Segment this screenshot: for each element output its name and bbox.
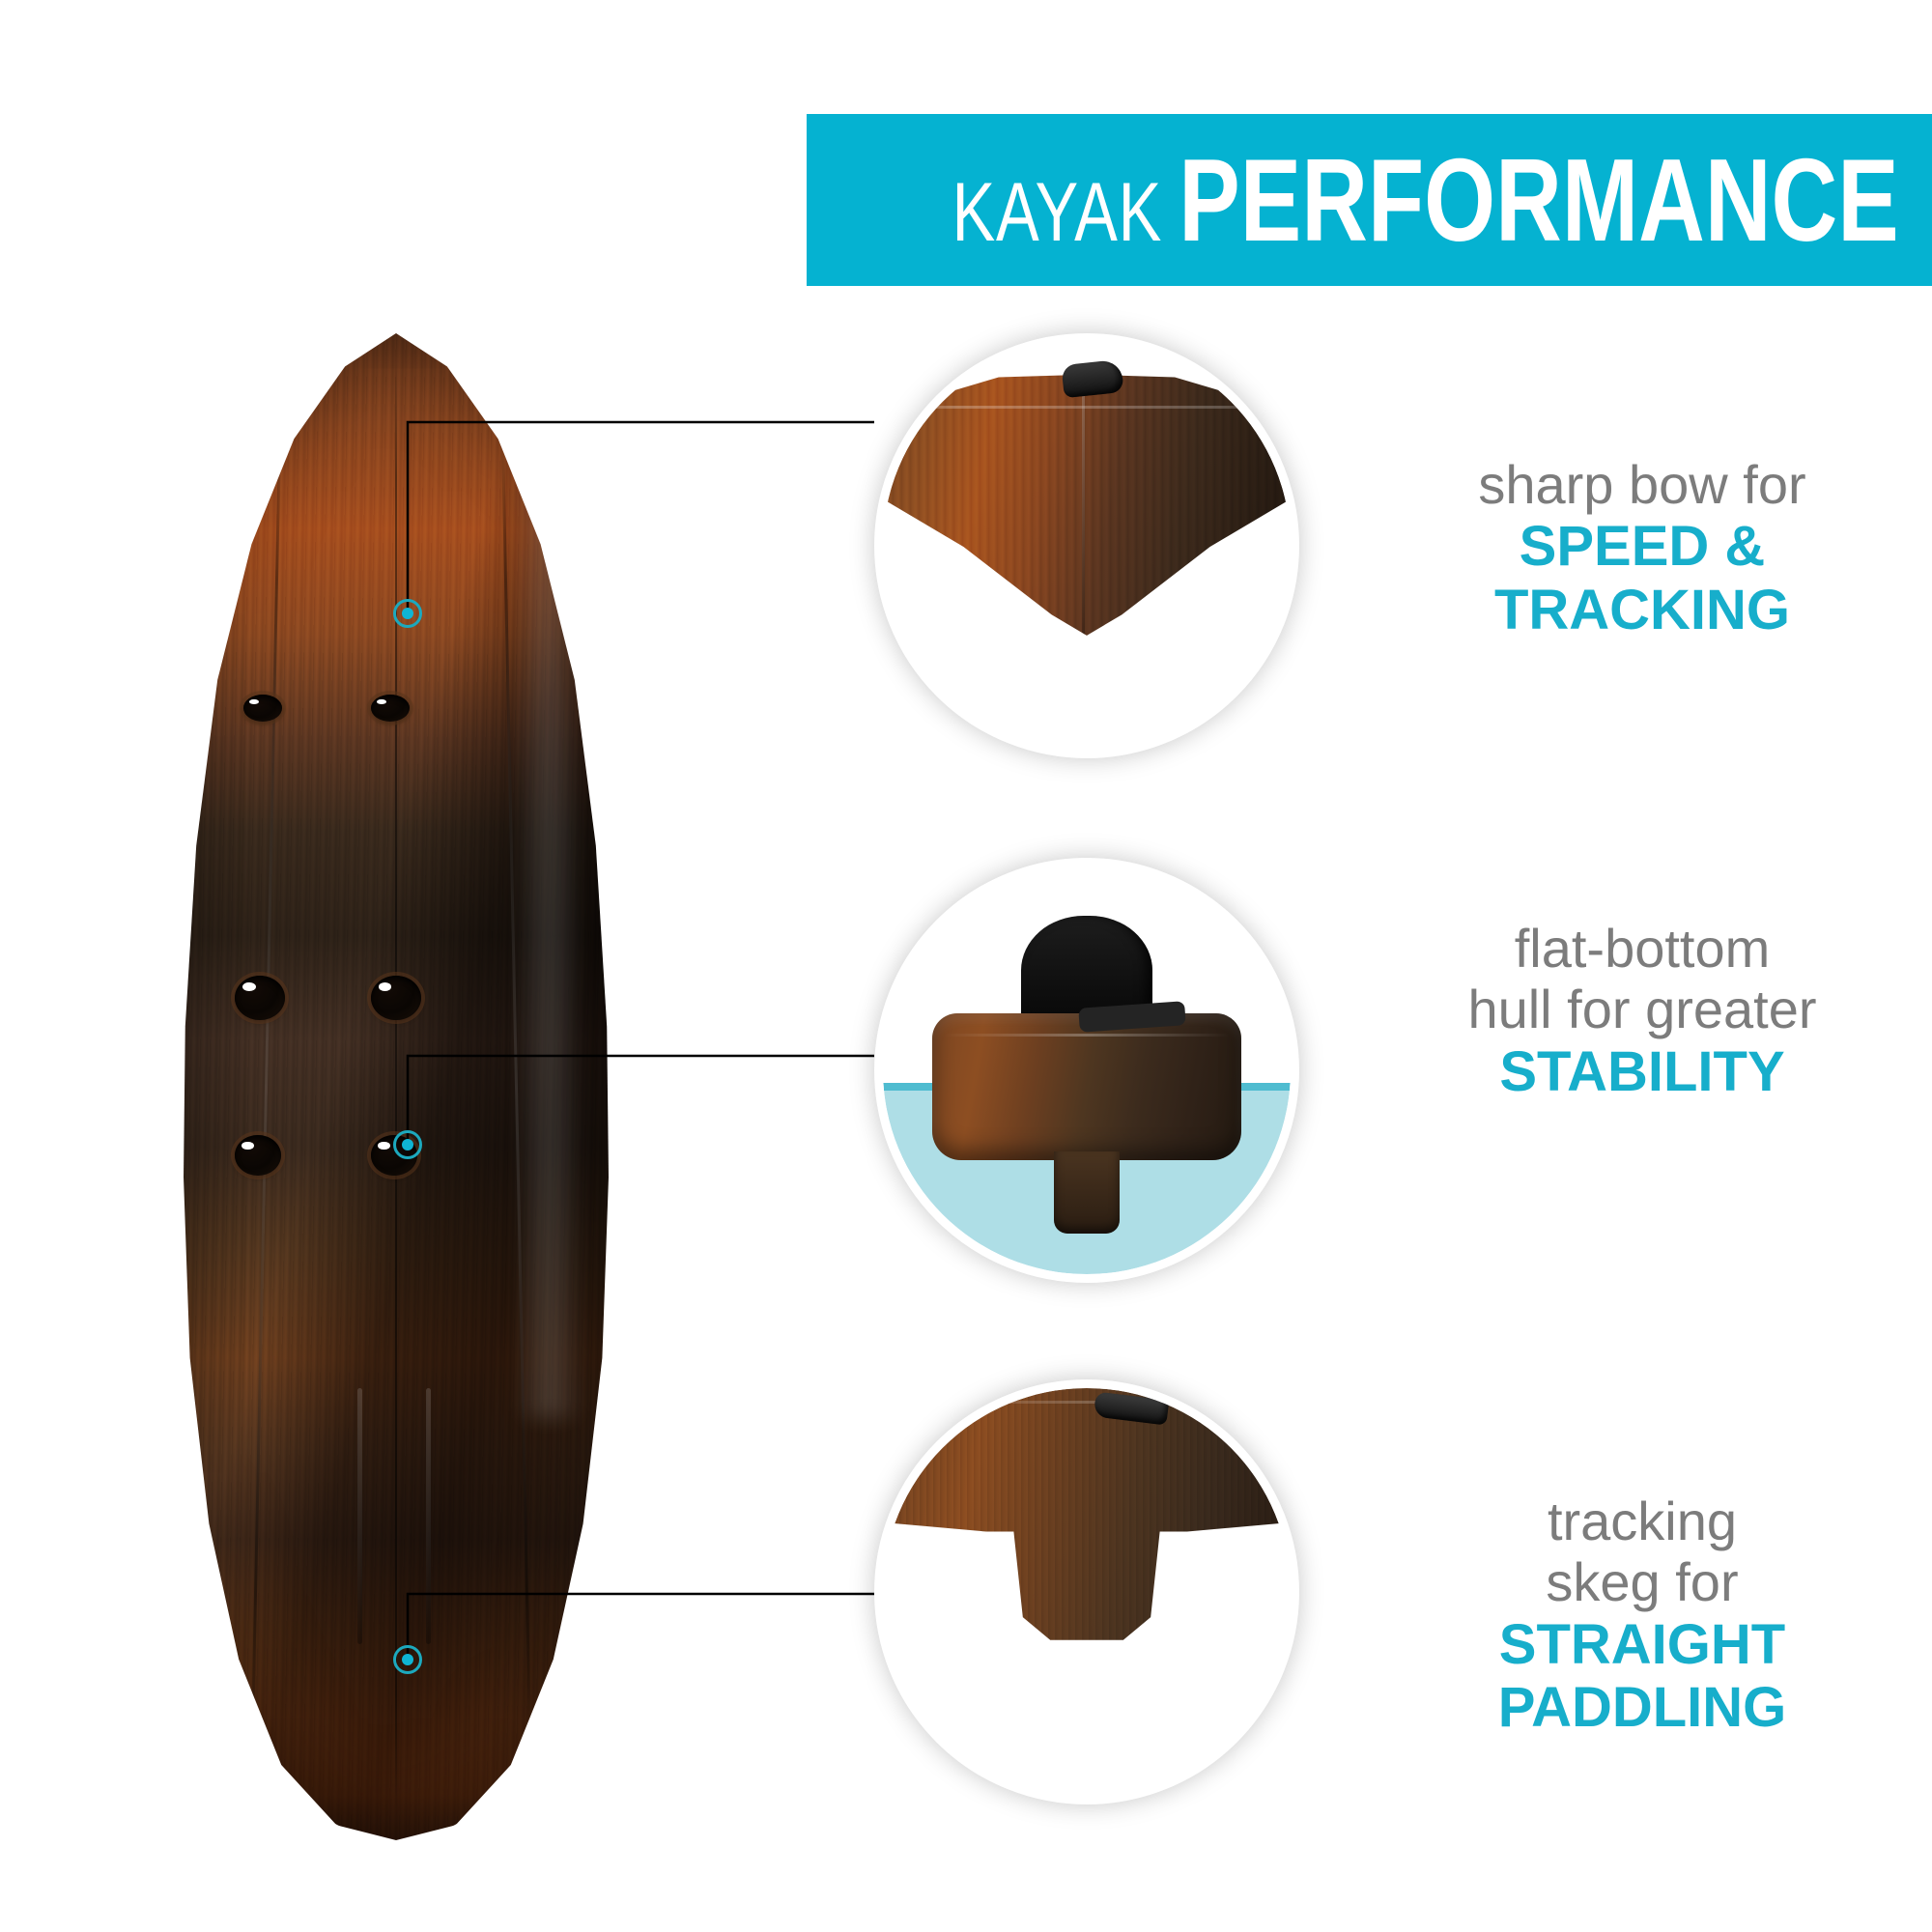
scupper-highlight <box>377 699 386 705</box>
scupper-highlight <box>249 699 259 705</box>
scupper-highlight <box>378 1142 389 1150</box>
hull-deck-line <box>944 1034 1229 1037</box>
kayak-hull-body <box>184 333 609 1840</box>
feature-text-stability: flat-bottom hull for greater STABILITY <box>1372 918 1913 1103</box>
scupper-hole <box>235 976 285 1020</box>
scupper-hole <box>235 1135 281 1176</box>
bow-marker-core <box>402 608 413 619</box>
bow-deck-rim <box>883 406 1291 409</box>
feature-lead-line: tracking <box>1372 1491 1913 1551</box>
hull-chine-left <box>250 424 281 1750</box>
stern-hull-shape <box>883 1388 1291 1658</box>
skeg-marker-core <box>402 1654 413 1665</box>
skeg-marker[interactable] <box>393 1645 422 1674</box>
bow-cleat-icon <box>1061 359 1123 398</box>
feature-text-straight-paddling: tracking skeg for STRAIGHT PADDLING <box>1372 1491 1913 1740</box>
bow-hull-shape <box>883 375 1291 636</box>
hull-cross-section <box>932 1013 1242 1160</box>
feature-highlight-line: STABILITY <box>1372 1040 1913 1104</box>
hull-marker-core <box>402 1139 413 1151</box>
feature-highlight-line: STRAIGHT <box>1372 1613 1913 1677</box>
feature-lead-line: flat-bottom <box>1372 918 1913 979</box>
bow-keel-ridge <box>1082 375 1085 636</box>
callout-image-stern-skeg <box>883 1388 1291 1796</box>
feature-lead-line: hull for greater <box>1372 979 1913 1039</box>
banner-title-bold: PERFORMANCE <box>1179 132 1899 268</box>
kayak-hull-illustration <box>184 333 609 1840</box>
hull-centerline-seam <box>395 363 397 1810</box>
banner-title: KAYAK PERFORMANCE <box>952 132 1899 268</box>
feature-highlight-line: PADDLING <box>1372 1676 1913 1740</box>
callout-circle-speed-tracking <box>874 333 1299 758</box>
hull-center-fin <box>1054 1151 1120 1233</box>
scupper-hole <box>371 976 421 1020</box>
feature-highlight-line: TRACKING <box>1372 579 1913 642</box>
feature-lead-line: sharp bow for <box>1372 454 1913 515</box>
callout-image-hull-in-water <box>883 867 1291 1274</box>
header-banner: KAYAK PERFORMANCE <box>807 114 1932 286</box>
callout-image-bow-front-view <box>883 342 1291 750</box>
stern-deck-band <box>883 1401 1291 1404</box>
hull-marker[interactable] <box>393 1130 422 1159</box>
scupper-highlight <box>241 1142 253 1150</box>
feature-lead-line: skeg for <box>1372 1551 1913 1612</box>
callout-circle-stability <box>874 858 1299 1283</box>
feature-text-speed-tracking: sharp bow for SPEED & TRACKING <box>1372 454 1913 641</box>
infographic-canvas: KAYAK PERFORMANCE <box>0 0 1932 1932</box>
scupper-hole <box>371 695 410 722</box>
feature-highlight-line: SPEED & <box>1372 515 1913 579</box>
hull-keel-strip-right <box>426 1388 431 1644</box>
callout-circle-straight-paddling <box>874 1379 1299 1804</box>
scupper-highlight <box>242 982 256 991</box>
bow-marker[interactable] <box>393 599 422 628</box>
hull-keel-strip-left <box>357 1388 362 1644</box>
banner-title-light: KAYAK <box>952 165 1163 261</box>
scupper-hole <box>243 695 282 722</box>
hull-sheen-highlight <box>515 484 582 1418</box>
scupper-highlight <box>379 982 392 991</box>
